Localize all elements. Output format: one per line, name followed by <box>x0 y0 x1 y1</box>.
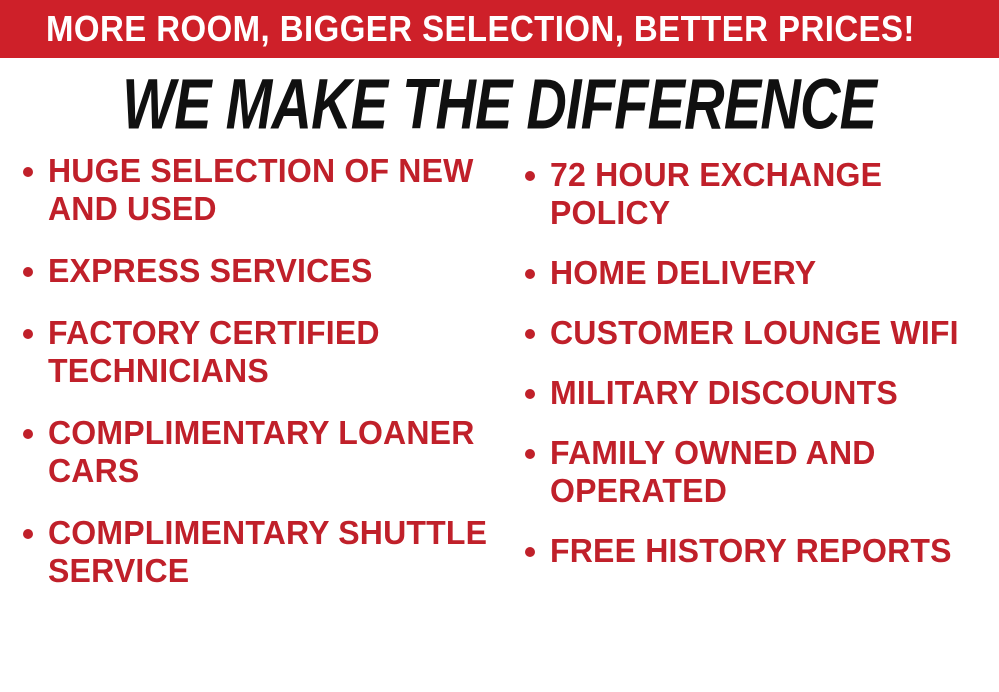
bullet-dot-icon <box>23 329 33 339</box>
list-item-label: 72 HOUR EXCHANGE POLICY <box>550 156 986 232</box>
list-item-label: HUGE SELECTION OF NEW AND USED <box>48 152 492 228</box>
list-item-label: FREE HISTORY REPORTS <box>550 532 986 570</box>
bullet-dot-icon <box>23 529 33 539</box>
headline-text: WE MAKE THE DIFFERENCE <box>123 67 877 140</box>
list-item-label: COMPLIMENTARY LOANER CARS <box>48 414 492 490</box>
list-item: 72 HOUR EXCHANGE POLICY <box>516 156 999 232</box>
list-item: FAMILY OWNED AND OPERATED <box>516 434 999 510</box>
list-item-label: MILITARY DISCOUNTS <box>550 374 986 412</box>
list-item: HOME DELIVERY <box>516 254 999 292</box>
list-item-label: CUSTOMER LOUNGE WIFI <box>550 314 986 352</box>
list-item-label: EXPRESS SERVICES <box>48 252 492 290</box>
bullet-dot-icon <box>525 329 535 339</box>
list-item: FACTORY CERTIFIED TECHNICIANS <box>14 314 506 390</box>
list-item-label: FAMILY OWNED AND OPERATED <box>550 434 986 510</box>
list-item-label: FACTORY CERTIFIED TECHNICIANS <box>48 314 492 390</box>
bullet-dot-icon <box>525 547 535 557</box>
features-column-left: HUGE SELECTION OF NEW AND USED EXPRESS S… <box>14 152 506 614</box>
list-item: MILITARY DISCOUNTS <box>516 374 999 412</box>
bullet-dot-icon <box>525 171 535 181</box>
advertisement-banner: MORE ROOM, BIGGER SELECTION, BETTER PRIC… <box>0 0 999 692</box>
bullet-dot-icon <box>23 429 33 439</box>
bullet-dot-icon <box>23 267 33 277</box>
list-item-label: HOME DELIVERY <box>550 254 986 292</box>
features-column-right: 72 HOUR EXCHANGE POLICY HOME DELIVERY CU… <box>516 152 999 592</box>
bullet-dot-icon <box>525 449 535 459</box>
bullet-dot-icon <box>525 269 535 279</box>
promo-banner: MORE ROOM, BIGGER SELECTION, BETTER PRIC… <box>0 0 999 58</box>
promo-banner-text: MORE ROOM, BIGGER SELECTION, BETTER PRIC… <box>46 6 888 52</box>
features-columns: HUGE SELECTION OF NEW AND USED EXPRESS S… <box>0 152 999 692</box>
list-item: FREE HISTORY REPORTS <box>516 532 999 570</box>
list-item: COMPLIMENTARY SHUTTLE SERVICE <box>14 514 506 590</box>
bullet-dot-icon <box>23 167 33 177</box>
list-item-label: COMPLIMENTARY SHUTTLE SERVICE <box>48 514 492 590</box>
bullet-dot-icon <box>525 389 535 399</box>
headline: WE MAKE THE DIFFERENCE <box>0 68 999 140</box>
list-item: EXPRESS SERVICES <box>14 252 506 290</box>
list-item: COMPLIMENTARY LOANER CARS <box>14 414 506 490</box>
list-item: HUGE SELECTION OF NEW AND USED <box>14 152 506 228</box>
list-item: CUSTOMER LOUNGE WIFI <box>516 314 999 352</box>
